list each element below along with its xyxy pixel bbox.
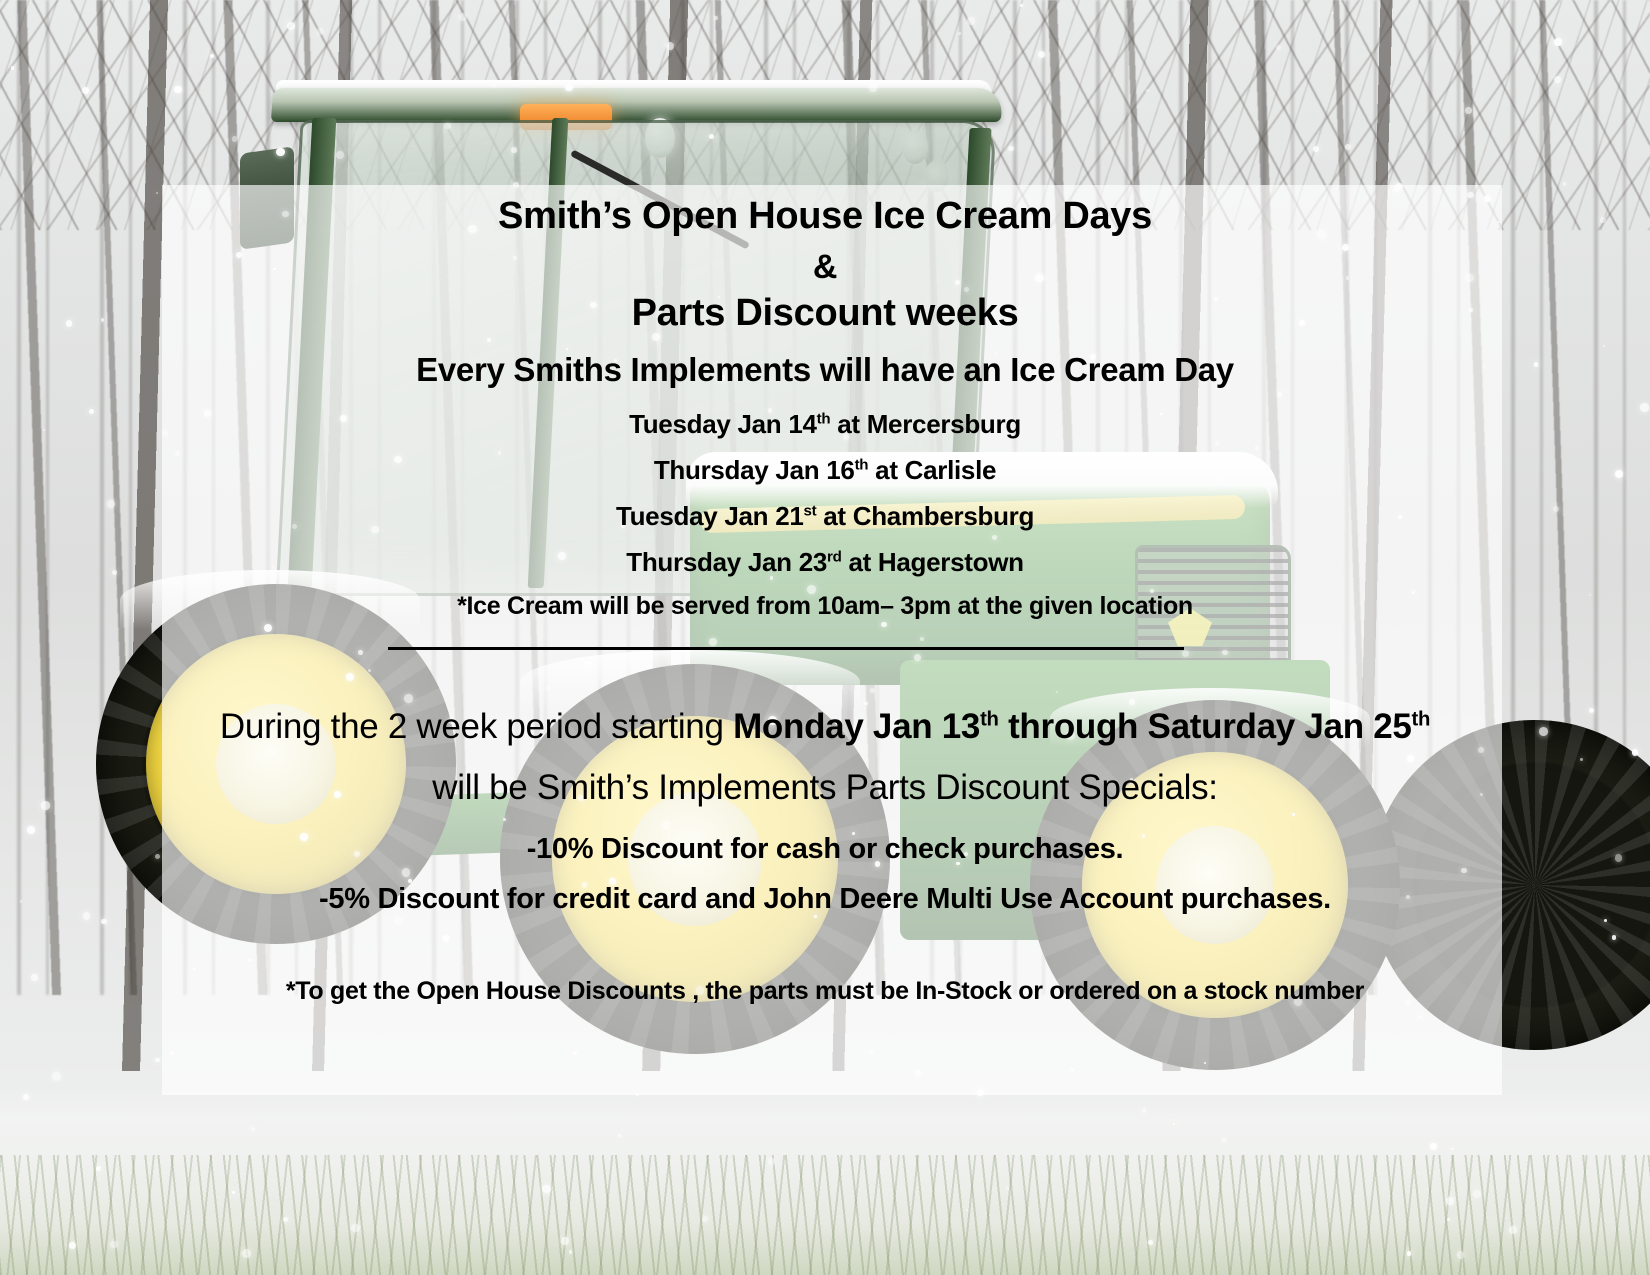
period-lead-text: During the 2 week period starting bbox=[220, 707, 733, 746]
event-date-row: Tuesday Jan 14th at Mercersburg bbox=[0, 409, 1650, 440]
event-weekday: Thursday bbox=[654, 455, 769, 485]
event-location: Carlisle bbox=[905, 455, 997, 485]
event-day: 23 bbox=[799, 547, 827, 577]
event-at-word: at bbox=[837, 409, 860, 439]
event-date-row: Thursday Jan 16th at Carlisle bbox=[0, 455, 1650, 486]
flyer-title-line-2: Parts Discount weeks bbox=[0, 292, 1650, 335]
promotional-flyer: Smith’s Open House Ice Cream Days & Part… bbox=[0, 0, 1650, 1275]
flyer-title-ampersand: & bbox=[0, 248, 1650, 287]
discount-specials-line: will be Smith’s Implements Parts Discoun… bbox=[0, 768, 1650, 808]
flyer-title-line-1: Smith’s Open House Ice Cream Days bbox=[0, 195, 1650, 238]
flyer-subtitle: Every Smiths Implements will have an Ice… bbox=[0, 351, 1650, 389]
period-end-date: through Saturday Jan 25 bbox=[999, 707, 1412, 746]
event-at-word: at bbox=[823, 501, 846, 531]
event-weekday: Tuesday bbox=[616, 501, 717, 531]
discount-offer-credit: -5% Discount for credit card and John De… bbox=[0, 883, 1650, 916]
event-location: Mercersburg bbox=[867, 409, 1021, 439]
event-date-row: Thursday Jan 23rd at Hagerstown bbox=[0, 547, 1650, 578]
event-date-row: Tuesday Jan 21st at Chambersburg bbox=[0, 501, 1650, 532]
event-month: Jan bbox=[724, 501, 768, 531]
event-location: Hagerstown bbox=[878, 547, 1024, 577]
period-start-ordinal: th bbox=[980, 708, 999, 730]
event-day-ordinal: th bbox=[817, 410, 831, 427]
event-month: Jan bbox=[748, 547, 792, 577]
event-day: 14 bbox=[788, 409, 816, 439]
discount-period-line: During the 2 week period starting Monday… bbox=[0, 707, 1650, 747]
event-location: Chambersburg bbox=[853, 501, 1034, 531]
event-day-ordinal: th bbox=[855, 456, 869, 473]
event-at-word: at bbox=[875, 455, 898, 485]
event-weekday: Thursday bbox=[626, 547, 741, 577]
section-divider bbox=[388, 647, 1184, 650]
period-end-ordinal: th bbox=[1412, 708, 1431, 730]
event-day: 16 bbox=[826, 455, 854, 485]
event-month: Jan bbox=[775, 455, 819, 485]
event-at-word: at bbox=[848, 547, 871, 577]
discount-offer-cash: -10% Discount for cash or check purchase… bbox=[0, 833, 1650, 866]
cab-roof bbox=[271, 88, 1003, 122]
event-day-ordinal: st bbox=[804, 502, 817, 519]
event-day: 21 bbox=[775, 501, 803, 531]
stock-footnote: *To get the Open House Discounts , the p… bbox=[0, 977, 1650, 1006]
event-weekday: Tuesday bbox=[629, 409, 730, 439]
period-start-date: Monday Jan 13 bbox=[733, 707, 980, 746]
event-day-ordinal: rd bbox=[827, 548, 841, 565]
ice-cream-serving-note: *Ice Cream will be served from 10am– 3pm… bbox=[0, 592, 1650, 621]
event-month: Jan bbox=[737, 409, 781, 439]
grass-tufts bbox=[0, 1155, 1650, 1275]
